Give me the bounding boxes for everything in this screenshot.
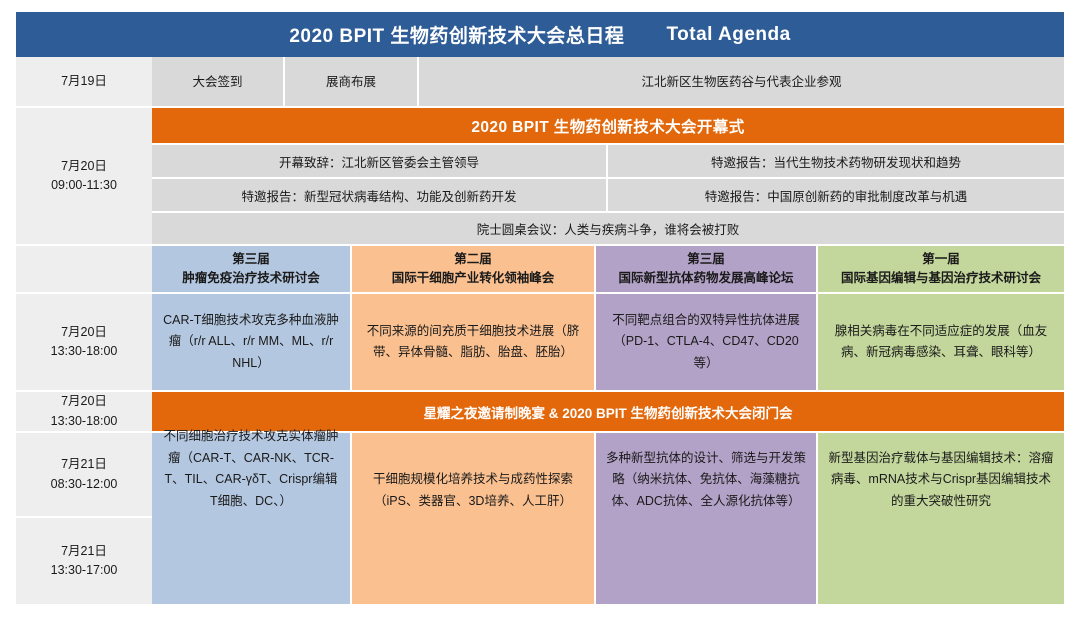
topic-text: 不同细胞治疗技术攻克实体瘤肿瘤（CAR-T、CAR-NK、TCR-T、TIL、C…	[161, 426, 341, 512]
table-row-forum-headers: 第三届 肿瘤免疫治疗技术研讨会 第二届 国际干细胞产业转化领袖峰会 第三届 国际…	[16, 244, 1064, 292]
date-cell-day3-afternoon: 7月21日 13:30-17:00	[16, 516, 152, 604]
date-cell-gala: 7月20日 13:30-18:00	[16, 392, 152, 431]
date-cell-day2-morning: 7月20日 09:00-11:30	[16, 108, 152, 244]
date-label: 7月19日	[61, 72, 107, 91]
topic-cell-antibody: 不同靶点组合的双特异性抗体进展（PD-1、CTLA-4、CD47、CD20等）	[596, 294, 818, 390]
agenda-title-en: Total Agenda	[666, 24, 790, 46]
forum-ordinal: 第三届	[232, 250, 270, 269]
date-label: 7月21日	[61, 542, 107, 561]
topic-cell-immunotherapy: CAR-T细胞技术攻克多种血液肿瘤（r/r ALL、r/r MM、ML、r/r …	[152, 294, 352, 390]
session-keynote-trends: 特邀报告：当代生物技术药物研发现状和趋势	[608, 145, 1064, 177]
day2-afternoon-topics: CAR-T细胞技术攻克多种血液肿瘤（r/r ALL、r/r MM、ML、r/r …	[152, 294, 1064, 390]
forum-header-immunotherapy: 第三届 肿瘤免疫治疗技术研讨会	[152, 246, 352, 292]
topic-text: 干细胞规模化培养技术与成药性探索（iPS、类器官、3D培养、人工肝）	[361, 469, 585, 512]
date-cell-day3-morning: 7月21日 08:30-12:00	[16, 433, 152, 516]
forum-header-geneediting: 第一届 国际基因编辑与基因治疗技术研讨会	[818, 246, 1064, 292]
time-label: 09:00-11:30	[51, 176, 117, 195]
forum-name: 国际新型抗体药物发展高峰论坛	[618, 269, 793, 288]
date-label: 7月20日	[61, 323, 107, 342]
table-row-day2-afternoon: 7月20日 13:30-18:00 CAR-T细胞技术攻克多种血液肿瘤（r/r …	[16, 292, 1064, 390]
time-label: 13:30-18:00	[51, 342, 118, 361]
topic-column-antibody-continued	[596, 516, 818, 604]
agenda-page: 2020 BPIT 生物药创新技术大会总日程 Total Agenda 7月19…	[0, 0, 1080, 643]
forum-ordinal: 第三届	[687, 250, 725, 269]
day3-topics-lower	[152, 516, 1064, 604]
table-row-day3-morning: 7月21日 08:30-12:00 不同细胞治疗技术攻克实体瘤肿瘤（CAR-T、…	[16, 431, 1064, 516]
session-keynote-covid: 特邀报告：新型冠状病毒结构、功能及创新药开发	[152, 179, 608, 211]
topic-column-geneediting-continued	[818, 516, 1064, 604]
session-keynote-regulatory: 特邀报告：中国原创新药的审批制度改革与机遇	[608, 179, 1064, 211]
topic-text: 新型基因治疗载体与基因编辑技术：溶瘤病毒、mRNA技术与Crispr基因编辑技术…	[827, 448, 1055, 513]
table-row-day3-afternoon: 7月21日 13:30-17:00	[16, 516, 1064, 604]
table-row-day1: 7月19日 大会签到 展商布展 江北新区生物医药谷与代表企业参观	[16, 57, 1064, 106]
session-academician-roundtable: 院士圆桌会议：人类与疾病斗争，谁将会被打败	[152, 211, 1064, 244]
topic-cell-stemcell-day3: 干细胞规模化培养技术与成药性探索（iPS、类器官、3D培养、人工肝）	[352, 433, 596, 516]
date-cell-day1: 7月19日	[16, 57, 152, 106]
forum-ordinal: 第一届	[922, 250, 960, 269]
date-label: 7月20日	[61, 157, 107, 176]
forum-header-stemcell: 第二届 国际干细胞产业转化领袖峰会	[352, 246, 596, 292]
date-cell-spacer	[16, 246, 152, 292]
table-row-gala: 7月20日 13:30-18:00 星耀之夜邀请制晚宴 & 2020 BPIT …	[16, 390, 1064, 431]
day2-morning-body: 2020 BPIT 生物药创新技术大会开幕式 开幕致辞：江北新区管委会主管领导 …	[152, 108, 1064, 244]
topic-column-stemcell-continued	[352, 516, 596, 604]
table-row-day2-morning: 7月20日 09:00-11:30 2020 BPIT 生物药创新技术大会开幕式…	[16, 106, 1064, 244]
day3-topics-upper: 不同细胞治疗技术攻克实体瘤肿瘤（CAR-T、CAR-NK、TCR-T、TIL、C…	[152, 433, 1064, 516]
topic-cell-geneediting-day3: 新型基因治疗载体与基因编辑技术：溶瘤病毒、mRNA技术与Crispr基因编辑技术…	[818, 433, 1064, 516]
session-company-tour: 江北新区生物医药谷与代表企业参观	[419, 57, 1064, 106]
day2-session-row-1: 开幕致辞：江北新区管委会主管领导 特邀报告：当代生物技术药物研发现状和趋势	[152, 143, 1064, 177]
agenda-title-cn: 2020 BPIT 生物药创新技术大会总日程	[289, 21, 624, 48]
date-cell-day2-afternoon: 7月20日 13:30-18:00	[16, 294, 152, 390]
time-label: 08:30-12:00	[51, 475, 118, 494]
topic-column-immunotherapy-continued	[152, 516, 352, 604]
topic-cell-antibody-day3: 多种新型抗体的设计、筛选与开发策略（纳米抗体、免抗体、海藻糖抗体、ADC抗体、全…	[596, 433, 818, 516]
day2-session-row-2: 特邀报告：新型冠状病毒结构、功能及创新药开发 特邀报告：中国原创新药的审批制度改…	[152, 177, 1064, 211]
time-label: 13:30-18:00	[51, 412, 118, 431]
time-label: 13:30-17:00	[51, 561, 118, 580]
session-booth-setup: 展商布展	[285, 57, 419, 106]
topic-cell-immunotherapy-day3: 不同细胞治疗技术攻克实体瘤肿瘤（CAR-T、CAR-NK、TCR-T、TIL、C…	[152, 433, 352, 516]
forum-name: 肿瘤免疫治疗技术研讨会	[182, 269, 320, 288]
topic-cell-geneediting: 腺相关病毒在不同适应症的发展（血友病、新冠病毒感染、耳聋、眼科等）	[818, 294, 1064, 390]
forum-header-antibody: 第三届 国际新型抗体药物发展高峰论坛	[596, 246, 818, 292]
day1-body: 大会签到 展商布展 江北新区生物医药谷与代表企业参观	[152, 57, 1064, 106]
forum-header-row: 第三届 肿瘤免疫治疗技术研讨会 第二届 国际干细胞产业转化领袖峰会 第三届 国际…	[152, 246, 1064, 292]
forum-name: 国际基因编辑与基因治疗技术研讨会	[841, 269, 1041, 288]
date-label: 7月21日	[61, 455, 107, 474]
topic-text: 多种新型抗体的设计、筛选与开发策略（纳米抗体、免抗体、海藻糖抗体、ADC抗体、全…	[605, 448, 807, 513]
topic-cell-stemcell: 不同来源的间充质干细胞技术进展（脐带、异体骨髓、脂肪、胎盘、胚胎）	[352, 294, 596, 390]
agenda-title-bar: 2020 BPIT 生物药创新技术大会总日程 Total Agenda	[16, 12, 1064, 57]
opening-ceremony-banner: 2020 BPIT 生物药创新技术大会开幕式	[152, 108, 1064, 143]
session-signin: 大会签到	[152, 57, 285, 106]
date-label: 7月20日	[61, 392, 107, 411]
session-opening-speech: 开幕致辞：江北新区管委会主管领导	[152, 145, 608, 177]
forum-name: 国际干细胞产业转化领袖峰会	[392, 269, 555, 288]
forum-ordinal: 第二届	[454, 250, 492, 269]
agenda-table: 2020 BPIT 生物药创新技术大会总日程 Total Agenda 7月19…	[16, 12, 1064, 631]
